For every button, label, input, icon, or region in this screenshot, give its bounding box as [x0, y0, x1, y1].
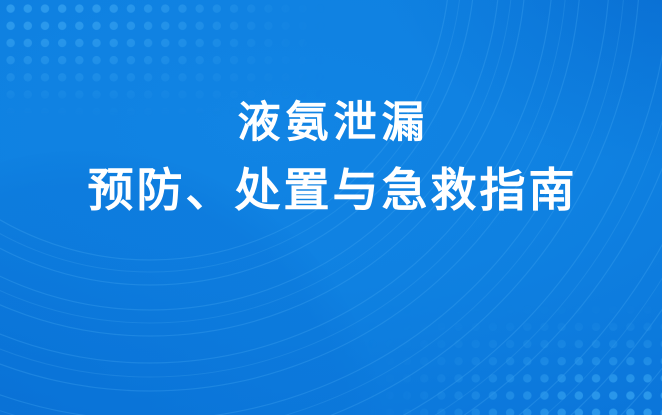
title-line-secondary: 预防、处置与急救指南 — [0, 160, 662, 220]
banner-graphic: 液氨泄漏 预防、处置与急救指南 — [0, 0, 662, 415]
title-line-primary: 液氨泄漏 — [0, 96, 662, 150]
dot-grid-bottom-right — [362, 299, 662, 415]
title-block: 液氨泄漏 预防、处置与急救指南 — [0, 96, 662, 220]
